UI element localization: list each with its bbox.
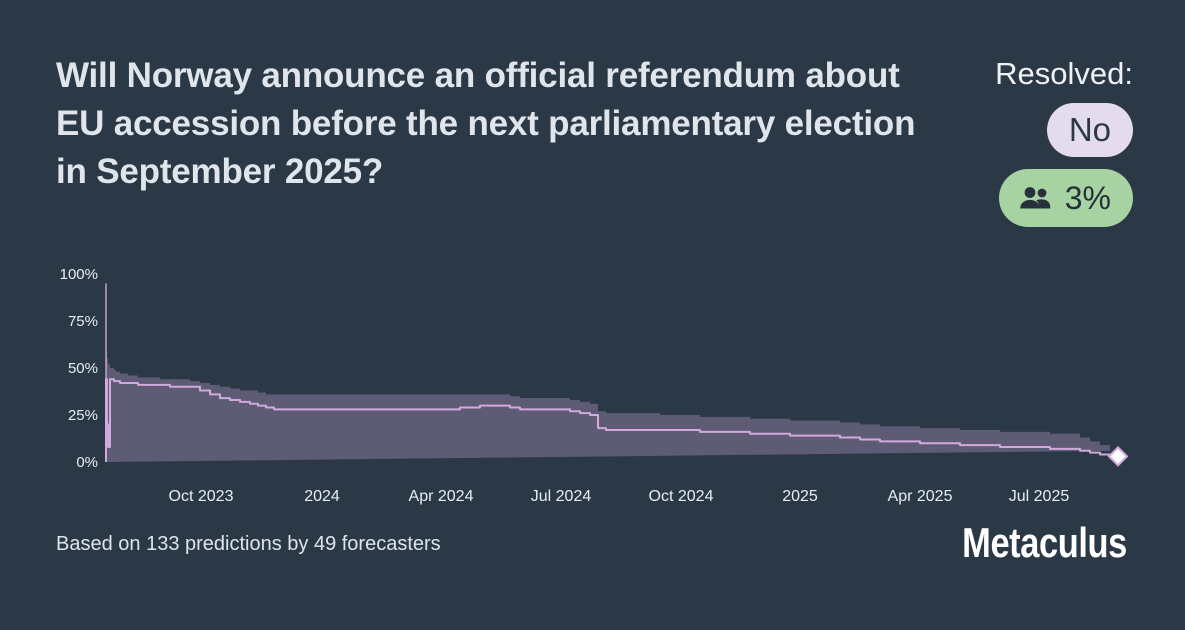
metaculus-question-card: Will Norway announce an official referen…	[0, 0, 1185, 630]
resolution-marker-icon	[1109, 447, 1127, 465]
x-tick-label: Oct 2023	[169, 488, 234, 505]
chart-canvas: 100% 75% 50% 25% 0% Oct 2023 2024 Apr 20…	[0, 255, 1185, 505]
x-tick-label: Apr 2025	[888, 488, 953, 505]
status-badge: No	[1047, 103, 1133, 157]
x-axis-ticks: Oct 2023 2024 Apr 2024 Jul 2024 Oct 2024…	[169, 488, 1070, 505]
x-tick-label: 2025	[782, 488, 818, 505]
y-tick-label: 0%	[76, 454, 98, 471]
y-tick-label: 50%	[68, 360, 98, 377]
x-tick-label: 2024	[304, 488, 340, 505]
x-tick-label: Apr 2024	[409, 488, 474, 505]
x-tick-label: Jul 2025	[1009, 488, 1070, 505]
y-tick-label: 25%	[68, 407, 98, 424]
community-prediction-value: 3%	[1065, 176, 1111, 220]
x-tick-label: Oct 2024	[649, 488, 714, 505]
metaculus-logo: Metaculus	[962, 519, 1127, 567]
resolved-label: Resolved:	[995, 55, 1133, 93]
y-axis-ticks: 100% 75% 50% 25% 0%	[60, 266, 98, 471]
y-tick-label: 100%	[60, 266, 98, 283]
question-header: Will Norway announce an official referen…	[56, 52, 946, 196]
y-tick-label: 75%	[68, 313, 98, 330]
x-tick-label: Jul 2024	[531, 488, 592, 505]
plot-series	[106, 283, 1127, 465]
prediction-chart: 100% 75% 50% 25% 0% Oct 2023 2024 Apr 20…	[0, 255, 1185, 505]
community-prediction-badge: 3%	[999, 169, 1133, 227]
resolution-block: Resolved: No 3%	[943, 55, 1133, 227]
forecaster-count-note: Based on 133 predictions by 49 forecaste…	[56, 533, 441, 556]
people-icon	[1019, 186, 1053, 210]
page-title: Will Norway announce an official referen…	[56, 52, 946, 196]
